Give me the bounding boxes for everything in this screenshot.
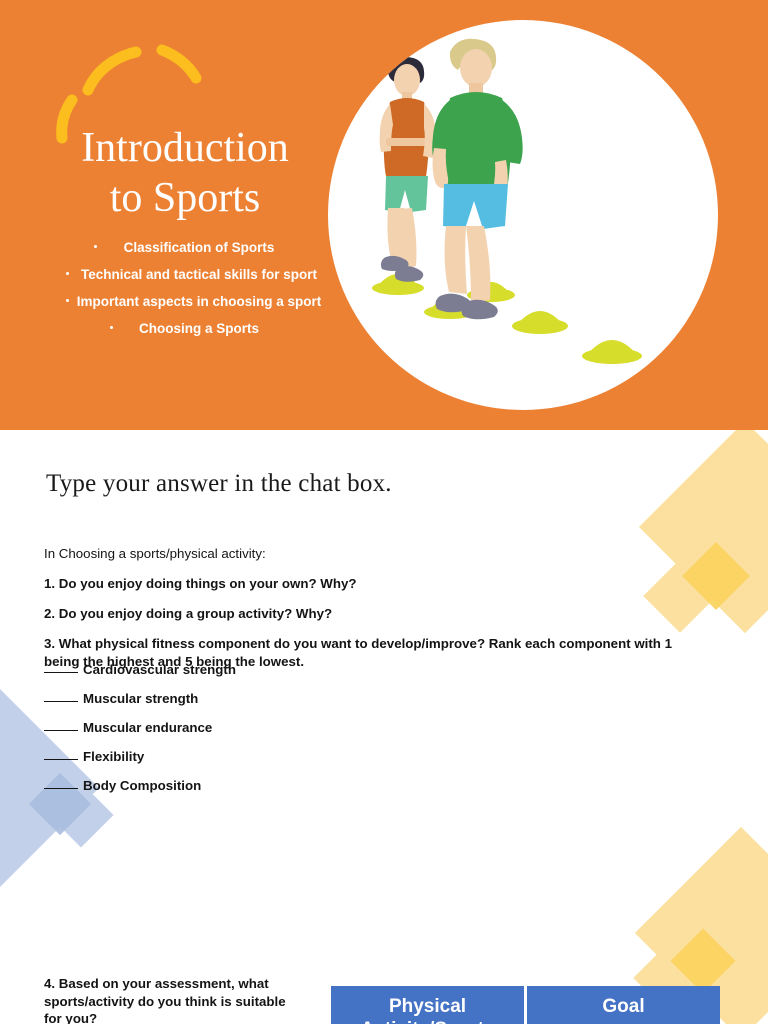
table-header-physical-activity: Physical Activity/Sports bbox=[331, 986, 524, 1024]
rank-blank-input[interactable] bbox=[44, 701, 78, 702]
agility-cones bbox=[372, 274, 642, 364]
rank-blank-input[interactable] bbox=[44, 788, 78, 789]
body-heading: Type your answer in the chat box. bbox=[46, 470, 392, 498]
slide-title-line1: Introduction bbox=[20, 124, 350, 174]
rank-item-label: Body Composition bbox=[83, 778, 201, 793]
runner-figure-front bbox=[432, 39, 522, 320]
question-item-1: 1. Do you enjoy doing things on your own… bbox=[44, 575, 704, 593]
rank-list-item: Flexibility bbox=[44, 749, 464, 765]
rank-blank-input[interactable] bbox=[44, 672, 78, 673]
hero-image-circle bbox=[328, 20, 718, 410]
hero-banner: Introduction to Sports Classification of… bbox=[0, 0, 768, 430]
question-item-2: 2. Do you enjoy doing a group activity? … bbox=[44, 605, 704, 623]
rank-blank-input[interactable] bbox=[44, 759, 78, 760]
rank-item-label: Muscular endurance bbox=[83, 720, 212, 735]
bullet-dot-icon bbox=[110, 326, 113, 329]
question-intro: In Choosing a sports/physical activity: bbox=[44, 545, 704, 563]
slide-title-line2: to Sports bbox=[20, 174, 350, 224]
rank-list-item: Cardiovascular strength bbox=[44, 662, 464, 678]
rank-list-item: Body Composition bbox=[44, 778, 464, 794]
two-runners-agility-cones-illustration bbox=[328, 20, 718, 410]
hero-bullet-item: Important aspects in choosing a sport bbox=[42, 292, 342, 312]
rank-item-label: Muscular strength bbox=[83, 691, 198, 706]
fitness-component-rank-list: Cardiovascular strength Muscular strengt… bbox=[44, 662, 464, 807]
hero-bullet-label: Choosing a Sports bbox=[139, 321, 259, 336]
hero-bullet-label: Classification of Sports bbox=[124, 240, 275, 255]
rank-blank-input[interactable] bbox=[44, 730, 78, 731]
rank-list-item: Muscular strength bbox=[44, 691, 464, 707]
slide-title: Introduction to Sports bbox=[20, 124, 350, 223]
rank-list-item: Muscular endurance bbox=[44, 720, 464, 736]
bullet-dot-icon bbox=[66, 299, 69, 302]
slide-page: Introduction to Sports Classification of… bbox=[0, 0, 768, 1024]
runner-figure-back bbox=[380, 57, 437, 282]
rank-item-label: Cardiovascular strength bbox=[83, 662, 236, 677]
bullet-dot-icon bbox=[94, 245, 97, 248]
rank-item-label: Flexibility bbox=[83, 749, 144, 764]
hero-bullet-list: Classification of Sports Technical and t… bbox=[42, 238, 342, 345]
question-item-4: 4. Based on your assessment, what sports… bbox=[44, 975, 294, 1024]
hero-bullet-item: Classification of Sports bbox=[42, 238, 342, 258]
hero-bullet-label: Technical and tactical skills for sport bbox=[81, 267, 317, 282]
yellow-diamond-decoration-bottom-right-accent bbox=[670, 928, 735, 993]
hero-bullet-label: Important aspects in choosing a sport bbox=[77, 294, 322, 309]
hero-bullet-item: Choosing a Sports bbox=[42, 319, 342, 339]
assessment-table: Physical Activity/Sports Goal bbox=[331, 986, 720, 1024]
table-header-goal: Goal bbox=[527, 986, 720, 1024]
slide-body: Type your answer in the chat box. In Cho… bbox=[0, 430, 768, 1024]
hero-bullet-item: Technical and tactical skills for sport bbox=[42, 265, 342, 285]
bullet-dot-icon bbox=[66, 272, 69, 275]
